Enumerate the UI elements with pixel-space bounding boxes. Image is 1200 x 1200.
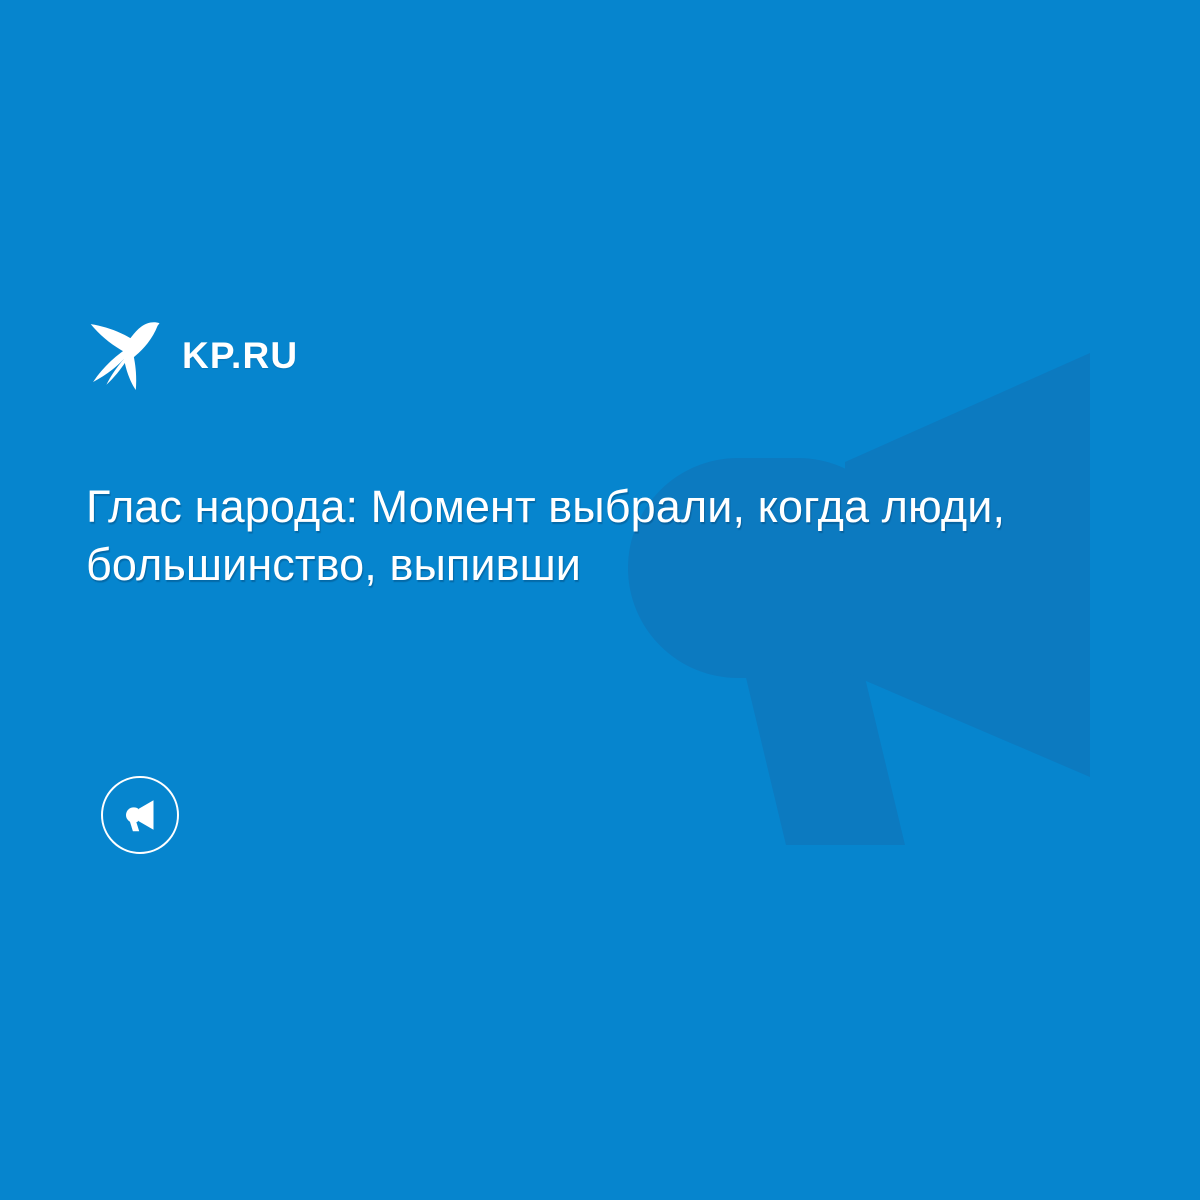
swallow-bird-icon: [88, 320, 162, 390]
megaphone-watermark-icon: [0, 0, 1200, 1200]
page-title: Глас народа: Момент выбрали, когда люди,…: [86, 478, 1016, 594]
brand-name: KP.RU: [182, 337, 298, 374]
megaphone-icon: [119, 794, 161, 836]
brand-row: KP.RU: [88, 318, 298, 392]
share-card: KP.RU Глас народа: Момент выбрали, когда…: [0, 0, 1200, 1200]
megaphone-badge: [101, 776, 179, 854]
